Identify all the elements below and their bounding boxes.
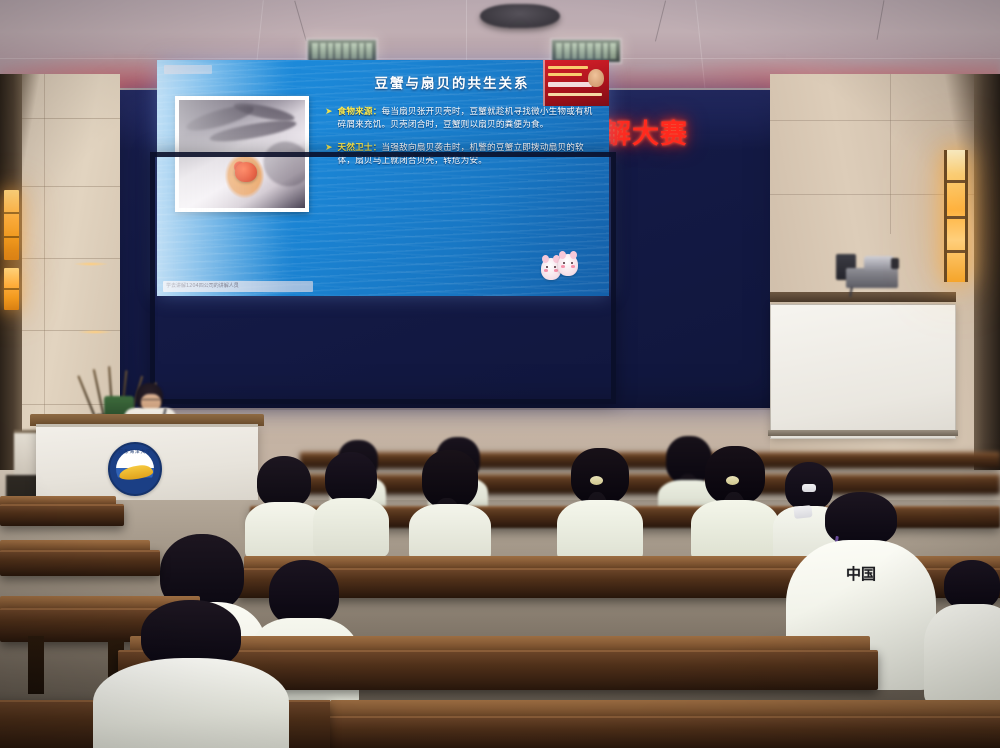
camera-lens — [864, 256, 894, 271]
slide-watermark-bottom: 学去讲解1204四公司的讲解人员 — [163, 281, 313, 292]
mascot-cheek — [544, 269, 548, 272]
desk-row-frontmost — [318, 716, 1000, 748]
mascot-cheek — [554, 269, 558, 272]
face-mask-icon — [793, 505, 812, 519]
bench-leg — [28, 636, 44, 694]
desk-row-far — [300, 452, 1000, 468]
mascot-ear — [570, 251, 577, 259]
hair-scrunchie — [726, 476, 739, 485]
cartoon-mascots — [541, 252, 591, 282]
hair-scrunchie — [590, 476, 603, 485]
audience-member — [694, 446, 776, 556]
ad-line — [548, 66, 588, 69]
mascot-eye — [554, 266, 556, 268]
desk-row-left — [0, 504, 124, 526]
pea-crab — [235, 162, 257, 182]
video-camera-icon — [836, 250, 898, 292]
torso — [691, 500, 779, 562]
shirt-text: 中国 — [841, 566, 881, 583]
mascot-ear — [559, 251, 566, 259]
bullet-text: 食物来源：每当扇贝张开贝壳时，豆蟹就趁机寻找微小生物或有机碎屑来充饥。贝壳闭合时… — [338, 106, 593, 131]
mascot-eye — [546, 266, 548, 268]
camera-shelf — [770, 292, 956, 302]
torso — [93, 658, 289, 748]
glasses-icon — [141, 399, 161, 404]
wall-downlight — [78, 330, 112, 334]
emblem-text: 广东海洋大学 — [110, 449, 160, 455]
university-emblem: 广东海洋大学 — [108, 442, 162, 496]
ad-line — [548, 73, 582, 76]
head — [257, 456, 311, 508]
wall-sconce-left-lower — [4, 268, 19, 310]
wall-downlight — [74, 262, 108, 266]
audience-member — [412, 450, 488, 554]
camera-body — [846, 268, 898, 288]
head — [944, 560, 1000, 610]
bullet-lead: 天然卫士： — [338, 143, 382, 153]
audience-member-foreground — [96, 600, 286, 748]
torso — [924, 604, 1000, 708]
torso — [409, 504, 491, 562]
audience-member — [560, 448, 640, 556]
ceiling-speaker-icon — [480, 4, 560, 28]
scallop-crab-photo — [175, 96, 309, 212]
ad-overlay-banner — [543, 60, 609, 106]
ad-line — [548, 82, 592, 87]
mascot-cheek — [561, 265, 565, 268]
lecture-hall-photo: 广东海洋大学第七届海洋科普讲解大赛 豆蟹与扇贝的共生关系 ➤ 食物来源：每当扇贝… — [0, 0, 1000, 748]
wall-sconce-right — [944, 150, 968, 282]
bullet-lead: 食物来源： — [338, 107, 382, 117]
bullet-arrow-icon: ➤ — [325, 106, 333, 131]
projected-slide: 豆蟹与扇贝的共生关系 ➤ 食物来源：每当扇贝张开贝壳时，豆蟹就趁机寻找微小生物或… — [157, 60, 609, 296]
bullet-arrow-icon: ➤ — [325, 142, 333, 167]
mascot-cheek — [571, 265, 575, 268]
bullet-text: 天然卫士：当强敌向扇贝袭击时，机警的豆蟹立即拨动扇贝的软体，扇贝马上就闭合贝壳，… — [338, 142, 593, 167]
ad-portrait — [588, 69, 604, 87]
slide-watermark-top — [164, 65, 212, 74]
ad-line — [548, 93, 602, 96]
whiteboard-tray — [768, 430, 958, 436]
wall-sconce-left — [4, 190, 19, 260]
list-item: ➤ 食物来源：每当扇贝张开贝壳时，豆蟹就趁机寻找微小生物或有机碎屑来充饥。贝壳闭… — [325, 106, 593, 131]
shell-streak — [256, 134, 309, 195]
mascot-eye — [571, 262, 573, 264]
list-item: ➤ 天然卫士：当强敌向扇贝袭击时，机警的豆蟹立即拨动扇贝的软体，扇贝马上就闭合贝… — [325, 142, 593, 167]
mascot-ear — [542, 255, 549, 263]
head — [325, 452, 377, 504]
torso — [557, 500, 643, 562]
mascot-right — [558, 254, 578, 276]
whiteboard — [770, 304, 956, 439]
audience-member-edge — [932, 560, 1000, 710]
shell-streak — [232, 100, 295, 125]
torso — [313, 498, 389, 558]
slide-bullet-list: ➤ 食物来源：每当扇贝张开贝壳时，豆蟹就趁机寻找微小生物或有机碎屑来充饥。贝壳闭… — [325, 106, 593, 178]
face-mask-icon — [802, 484, 816, 492]
audience-member — [316, 452, 386, 552]
desk-row-left — [0, 550, 160, 576]
mascot-eye — [563, 262, 565, 264]
